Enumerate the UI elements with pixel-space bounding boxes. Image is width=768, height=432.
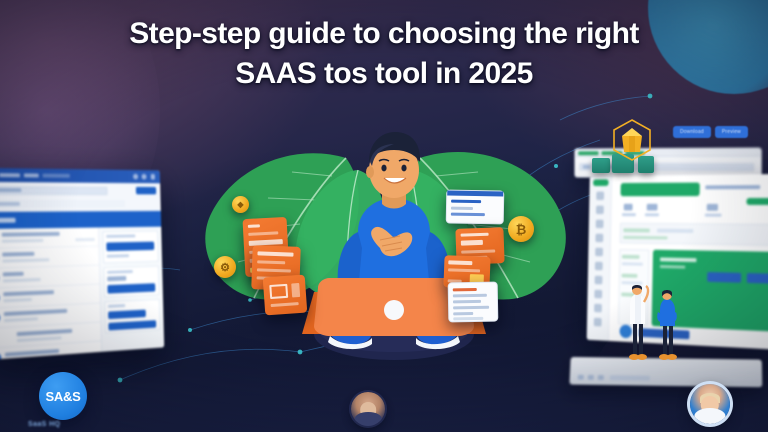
avatar-body [694, 408, 725, 424]
title-line-1: Step-step guide to choosing the right [0, 14, 768, 54]
page-title: Step-step guide to choosing the right SA… [0, 14, 768, 94]
coin-icon: ₿ [508, 216, 534, 242]
floating-card-white[interactable] [448, 282, 499, 323]
gear-coin-icon: ⚙ [214, 256, 236, 278]
hero-graphic-stage: ₿ ⚙ ◆ [0, 0, 768, 432]
download-button[interactable]: Download [673, 126, 711, 138]
floating-card-orange[interactable] [263, 275, 308, 316]
standing-figure-doctor [624, 284, 650, 368]
floating-card-white[interactable] [446, 189, 505, 224]
saas-badge[interactable]: SA&S [39, 372, 87, 420]
preview-button[interactable]: Preview [715, 126, 748, 138]
avatar-body [355, 412, 382, 426]
saas-badge-subtext: SaaS HQ [28, 421, 100, 430]
avatar-center[interactable] [351, 392, 385, 426]
standing-figure-nurse [654, 290, 680, 368]
avatar-right[interactable] [690, 384, 730, 424]
title-line-2: SAAS tos tool in 2025 [0, 54, 768, 94]
small-coin-icon: ◆ [232, 196, 249, 213]
pill-button-bar[interactable]: Download Preview [673, 126, 748, 138]
saas-badge-label: SA&S [46, 389, 81, 404]
crate-icon [592, 158, 610, 173]
gold-package-hex-icon [610, 118, 654, 162]
